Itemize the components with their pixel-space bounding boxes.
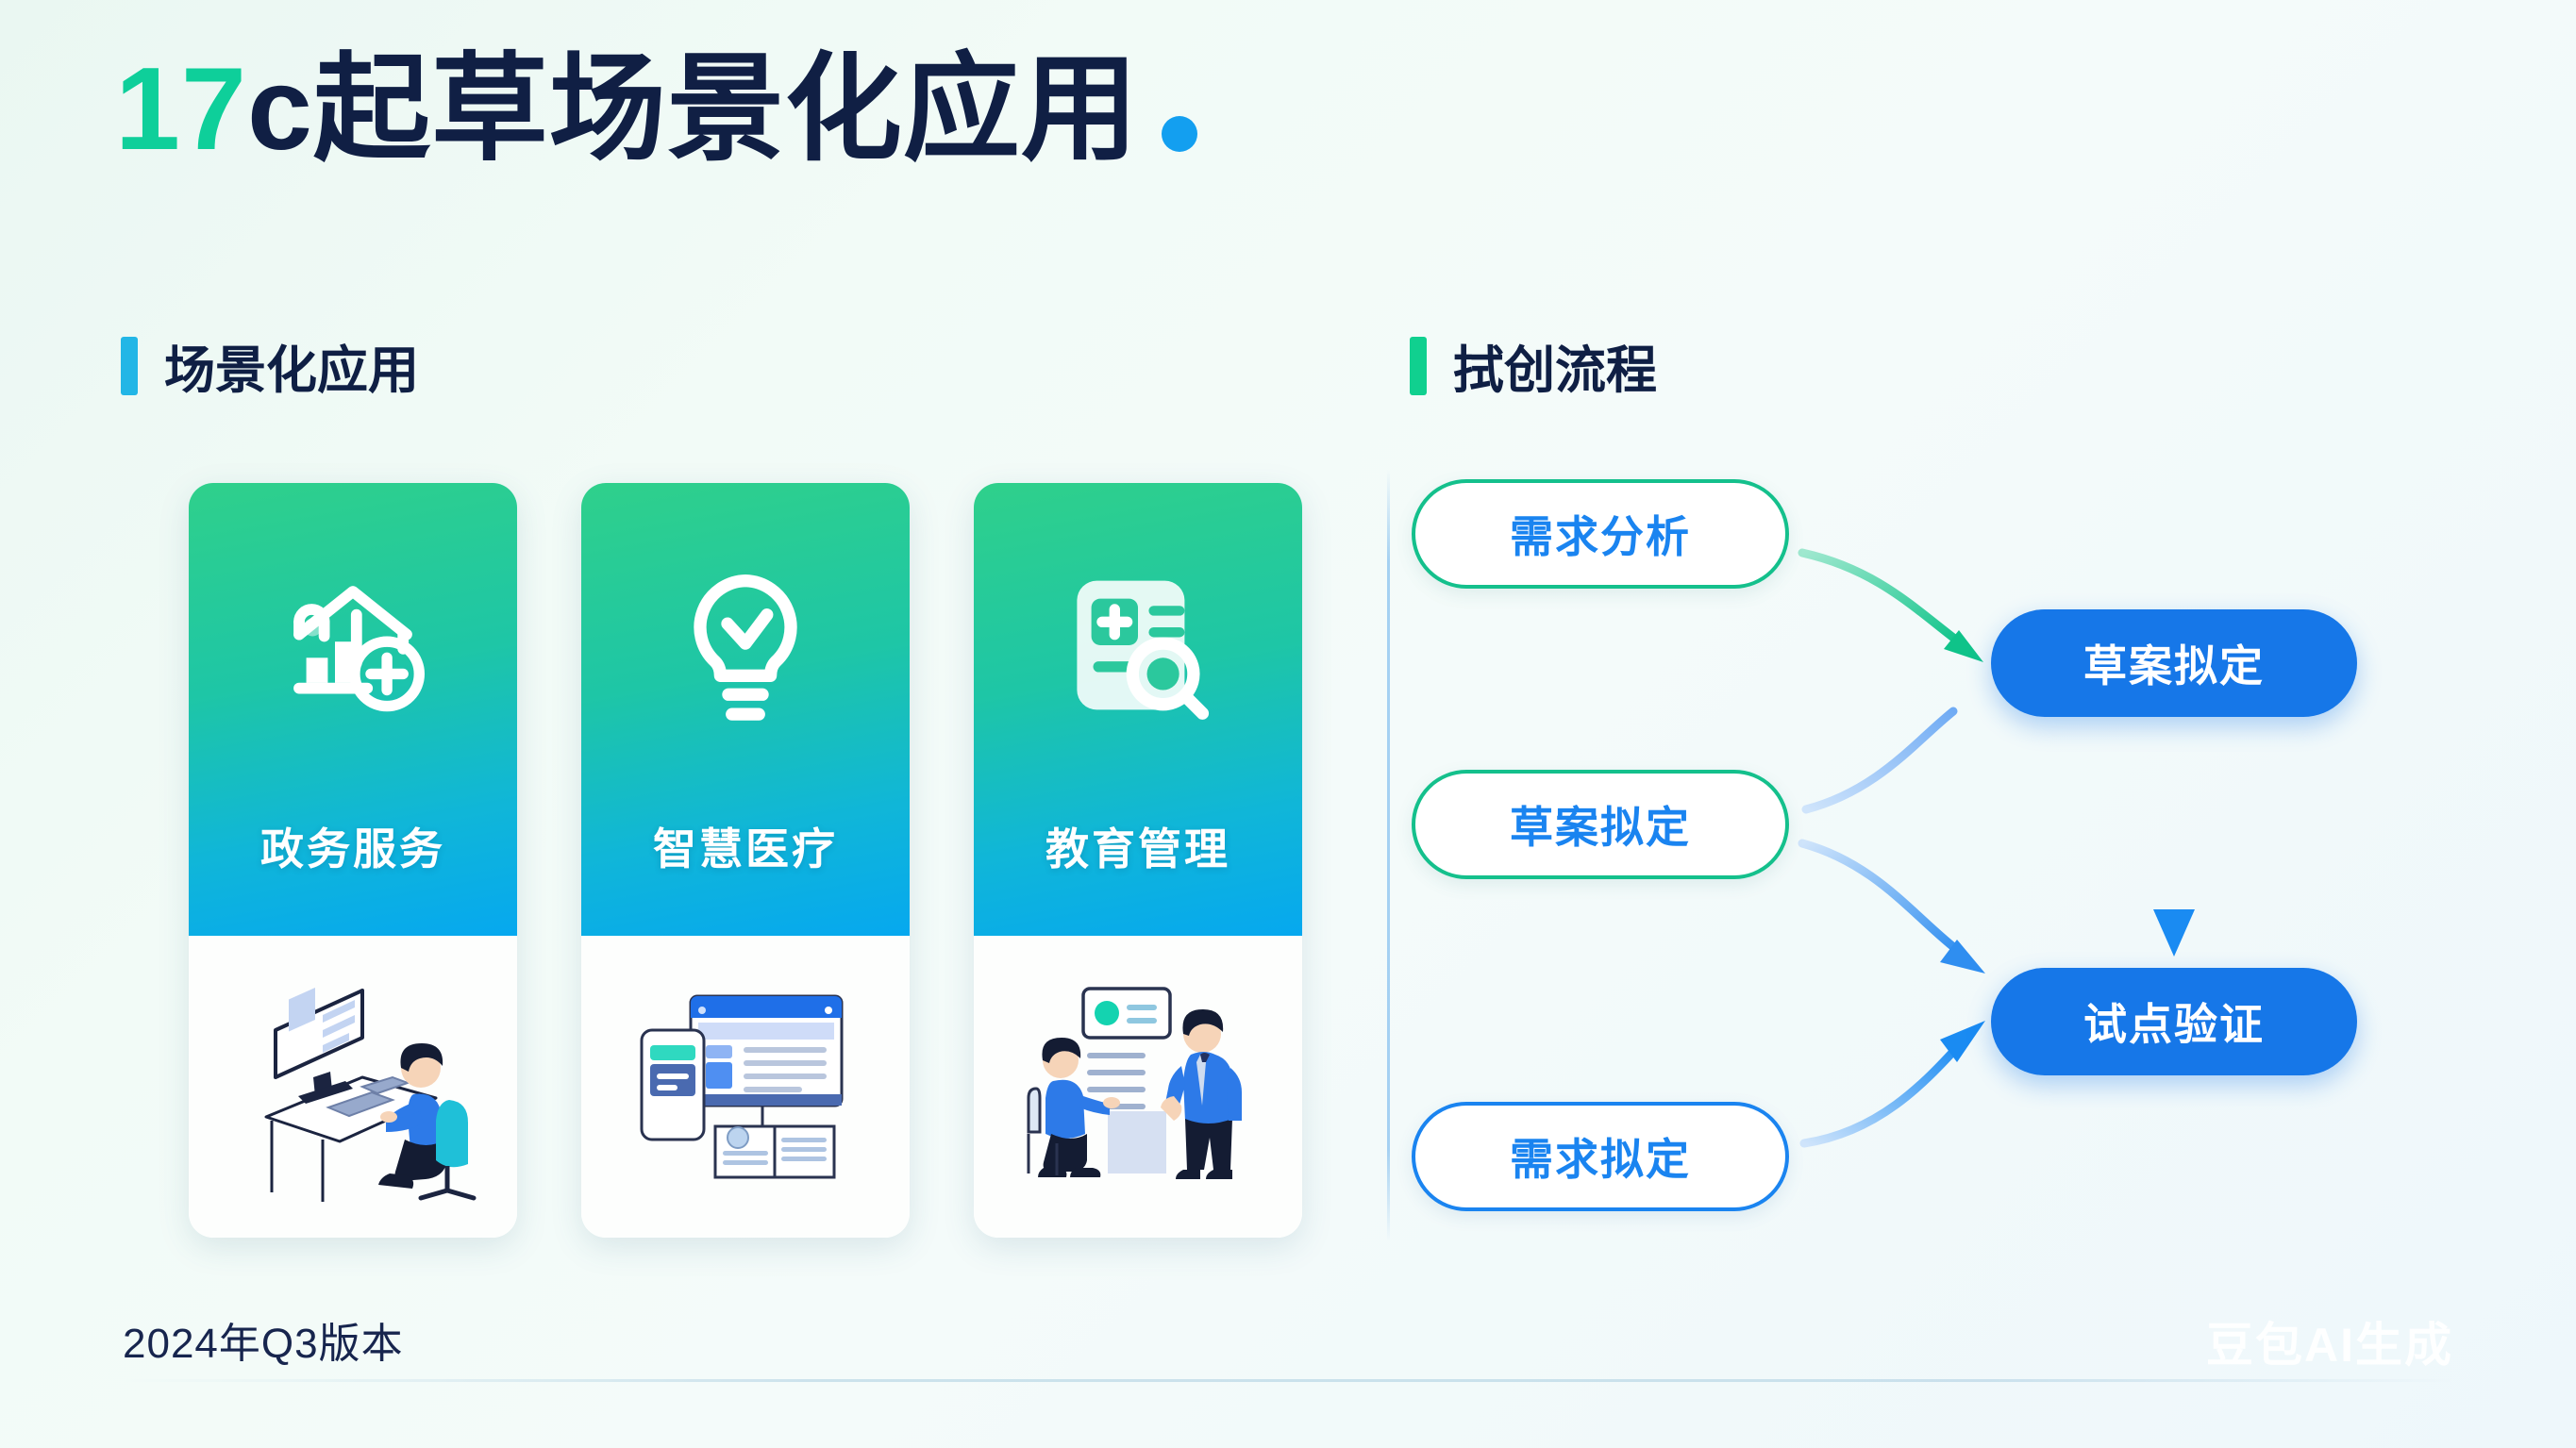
footer-divider	[123, 1379, 2453, 1382]
card-header: 政务服务	[189, 483, 517, 936]
section-heading-right: 拭创流程	[1410, 328, 1657, 403]
flow-node-label: 草案拟定	[1510, 793, 1691, 856]
section-heading-left: 场景化应用	[121, 328, 419, 403]
two-people-counter-illustration	[996, 955, 1280, 1219]
slide-canvas: 17c起草场景化应用 场景化应用 拭创流程	[0, 0, 2576, 1448]
flow-node-pilot-verification[interactable]: 试点验证	[1991, 968, 2357, 1075]
card-illustration-area	[581, 936, 910, 1238]
card-header: 教育管理	[974, 483, 1302, 936]
section-heading-right-label: 拭创流程	[1453, 328, 1657, 403]
section-divider	[1387, 470, 1390, 1241]
scenario-card[interactable]: 教育管理	[974, 483, 1302, 1238]
card-illustration-area	[974, 936, 1302, 1238]
section-heading-left-label: 场景化应用	[164, 328, 419, 403]
calculator-search-icon	[1048, 553, 1228, 738]
flow-node-label: 试点验证	[2083, 990, 2265, 1053]
flow-node-draft-formulation[interactable]: 草案拟定	[1991, 609, 2357, 717]
scenario-card[interactable]: 智慧医疗	[581, 483, 910, 1238]
card-header: 智慧医疗	[581, 483, 910, 936]
scenario-card[interactable]: 政务服务	[189, 483, 517, 1238]
title-accent-dot-icon	[1162, 116, 1197, 152]
house-chart-plus-icon	[263, 553, 443, 738]
card-label: 教育管理	[974, 815, 1302, 877]
flow-node-label: 草案拟定	[2083, 632, 2265, 694]
flow-node-requirement-formulation[interactable]: 需求拟定	[1412, 1102, 1789, 1211]
flow-node-label: 需求拟定	[1510, 1125, 1691, 1188]
card-label: 政务服务	[189, 815, 517, 877]
lightbulb-check-icon	[656, 553, 835, 738]
card-illustration-area	[189, 936, 517, 1238]
version-note: 2024年Q3版本	[123, 1309, 404, 1370]
scenario-card-list: 政务服务	[189, 483, 1302, 1238]
devices-ui-mockup-illustration	[604, 955, 887, 1219]
page-title: 17c起草场景化应用	[115, 45, 1197, 174]
accent-bar-icon	[1410, 337, 1427, 395]
flow-node-needs-analysis[interactable]: 需求分析	[1412, 479, 1789, 589]
watermark-label: 豆包AI生成	[2206, 1307, 2453, 1375]
accent-bar-icon	[121, 337, 138, 395]
process-flow-diagram: 需求分析 草案拟定 需求拟定 草案拟定 试点验证	[1406, 458, 2519, 1251]
flow-node-label: 需求分析	[1510, 503, 1691, 565]
card-label: 智慧医疗	[581, 815, 910, 877]
flow-node-draft-formulation-outline[interactable]: 草案拟定	[1412, 770, 1789, 879]
title-rest: c起草场景化应用	[247, 45, 1139, 174]
title-prefix: 17	[115, 45, 247, 174]
person-at-desk-illustration	[211, 955, 494, 1219]
